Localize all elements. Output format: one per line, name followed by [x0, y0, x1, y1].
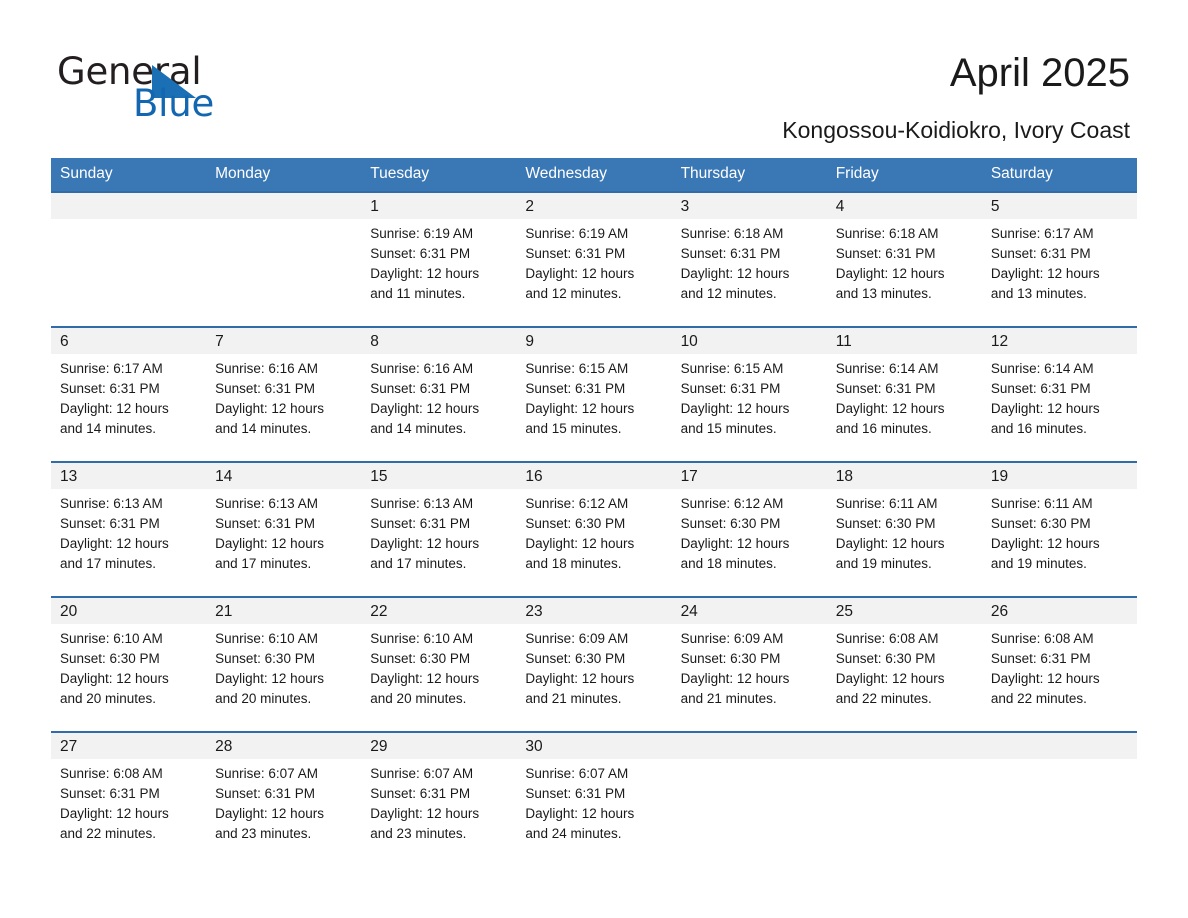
- day-cell-inner: 22Sunrise: 6:10 AMSunset: 6:30 PMDayligh…: [361, 598, 516, 731]
- day-cell-details: Sunrise: 6:13 AMSunset: 6:31 PMDaylight:…: [361, 489, 516, 574]
- daylight-text-line1: Daylight: 12 hours: [370, 399, 510, 419]
- daylight-text-line1: Daylight: 12 hours: [215, 669, 355, 689]
- calendar-day-cell-empty: [982, 732, 1137, 850]
- daylight-text-line2: and 17 minutes.: [215, 554, 355, 574]
- calendar-page: General Blue April 2025 Kongossou-Koidio…: [0, 0, 1188, 918]
- daylight-text-line2: and 17 minutes.: [60, 554, 200, 574]
- daylight-text-line1: Daylight: 12 hours: [836, 669, 976, 689]
- day-cell-inner: 15Sunrise: 6:13 AMSunset: 6:31 PMDayligh…: [361, 463, 516, 596]
- sunrise-text: Sunrise: 6:08 AM: [836, 629, 976, 649]
- day-number: 6: [51, 328, 206, 354]
- daylight-text-line2: and 11 minutes.: [370, 284, 510, 304]
- day-cell-details: Sunrise: 6:17 AMSunset: 6:31 PMDaylight:…: [982, 219, 1137, 304]
- day-cell-inner: 25Sunrise: 6:08 AMSunset: 6:30 PMDayligh…: [827, 598, 982, 731]
- day-number: [827, 733, 982, 759]
- daylight-text-line2: and 14 minutes.: [60, 419, 200, 439]
- day-cell-details: Sunrise: 6:18 AMSunset: 6:31 PMDaylight:…: [672, 219, 827, 304]
- day-number: [51, 193, 206, 219]
- daylight-text-line1: Daylight: 12 hours: [525, 264, 665, 284]
- calendar-day-cell[interactable]: 20Sunrise: 6:10 AMSunset: 6:30 PMDayligh…: [51, 597, 206, 732]
- sunrise-text: Sunrise: 6:07 AM: [215, 764, 355, 784]
- day-number: 17: [672, 463, 827, 489]
- daylight-text-line1: Daylight: 12 hours: [681, 534, 821, 554]
- day-cell-inner: 3Sunrise: 6:18 AMSunset: 6:31 PMDaylight…: [672, 193, 827, 326]
- daylight-text-line2: and 20 minutes.: [370, 689, 510, 709]
- sunset-text: Sunset: 6:30 PM: [525, 514, 665, 534]
- sunset-text: Sunset: 6:30 PM: [215, 649, 355, 669]
- day-cell-details: Sunrise: 6:11 AMSunset: 6:30 PMDaylight:…: [982, 489, 1137, 574]
- calendar-week-row: 1Sunrise: 6:19 AMSunset: 6:31 PMDaylight…: [51, 192, 1137, 327]
- daylight-text-line2: and 12 minutes.: [525, 284, 665, 304]
- calendar-day-cell[interactable]: 25Sunrise: 6:08 AMSunset: 6:30 PMDayligh…: [827, 597, 982, 732]
- sunrise-text: Sunrise: 6:09 AM: [681, 629, 821, 649]
- calendar-day-cell[interactable]: 9Sunrise: 6:15 AMSunset: 6:31 PMDaylight…: [516, 327, 671, 462]
- day-number: 11: [827, 328, 982, 354]
- day-cell-inner: [51, 193, 206, 326]
- day-cell-details: Sunrise: 6:14 AMSunset: 6:31 PMDaylight:…: [827, 354, 982, 439]
- calendar-week-row: 6Sunrise: 6:17 AMSunset: 6:31 PMDaylight…: [51, 327, 1137, 462]
- calendar-day-cell[interactable]: 18Sunrise: 6:11 AMSunset: 6:30 PMDayligh…: [827, 462, 982, 597]
- sunrise-text: Sunrise: 6:15 AM: [681, 359, 821, 379]
- sunset-text: Sunset: 6:30 PM: [836, 514, 976, 534]
- day-number: 15: [361, 463, 516, 489]
- day-cell-inner: 30Sunrise: 6:07 AMSunset: 6:31 PMDayligh…: [516, 733, 671, 850]
- sunrise-text: Sunrise: 6:08 AM: [60, 764, 200, 784]
- day-cell-details: Sunrise: 6:12 AMSunset: 6:30 PMDaylight:…: [672, 489, 827, 574]
- calendar-day-cell[interactable]: 30Sunrise: 6:07 AMSunset: 6:31 PMDayligh…: [516, 732, 671, 850]
- calendar-week-row: 13Sunrise: 6:13 AMSunset: 6:31 PMDayligh…: [51, 462, 1137, 597]
- day-number: 9: [516, 328, 671, 354]
- sunset-text: Sunset: 6:30 PM: [525, 649, 665, 669]
- day-cell-inner: 24Sunrise: 6:09 AMSunset: 6:30 PMDayligh…: [672, 598, 827, 731]
- daylight-text-line1: Daylight: 12 hours: [370, 534, 510, 554]
- day-number: 29: [361, 733, 516, 759]
- page-title: April 2025: [950, 47, 1130, 99]
- calendar-day-cell[interactable]: 27Sunrise: 6:08 AMSunset: 6:31 PMDayligh…: [51, 732, 206, 850]
- day-cell-inner: [982, 733, 1137, 850]
- day-cell-inner: 14Sunrise: 6:13 AMSunset: 6:31 PMDayligh…: [206, 463, 361, 596]
- day-cell-inner: 18Sunrise: 6:11 AMSunset: 6:30 PMDayligh…: [827, 463, 982, 596]
- sunset-text: Sunset: 6:31 PM: [60, 784, 200, 804]
- daylight-text-line1: Daylight: 12 hours: [60, 804, 200, 824]
- sunset-text: Sunset: 6:31 PM: [370, 514, 510, 534]
- sunset-text: Sunset: 6:31 PM: [836, 244, 976, 264]
- sunset-text: Sunset: 6:31 PM: [525, 784, 665, 804]
- day-number: 28: [206, 733, 361, 759]
- calendar-day-cell[interactable]: 15Sunrise: 6:13 AMSunset: 6:31 PMDayligh…: [361, 462, 516, 597]
- month-calendar: Sunday Monday Tuesday Wednesday Thursday…: [51, 158, 1137, 850]
- sunrise-text: Sunrise: 6:13 AM: [370, 494, 510, 514]
- daylight-text-line1: Daylight: 12 hours: [836, 534, 976, 554]
- day-number: 10: [672, 328, 827, 354]
- day-cell-inner: [206, 193, 361, 326]
- day-cell-inner: 1Sunrise: 6:19 AMSunset: 6:31 PMDaylight…: [361, 193, 516, 326]
- calendar-day-cell[interactable]: 6Sunrise: 6:17 AMSunset: 6:31 PMDaylight…: [51, 327, 206, 462]
- sunset-text: Sunset: 6:30 PM: [60, 649, 200, 669]
- sunrise-text: Sunrise: 6:13 AM: [60, 494, 200, 514]
- calendar-day-cell[interactable]: 17Sunrise: 6:12 AMSunset: 6:30 PMDayligh…: [672, 462, 827, 597]
- sunrise-text: Sunrise: 6:12 AM: [681, 494, 821, 514]
- sunrise-text: Sunrise: 6:19 AM: [525, 224, 665, 244]
- sunset-text: Sunset: 6:30 PM: [991, 514, 1131, 534]
- day-cell-details: Sunrise: 6:10 AMSunset: 6:30 PMDaylight:…: [51, 624, 206, 709]
- sunrise-text: Sunrise: 6:12 AM: [525, 494, 665, 514]
- day-number: 3: [672, 193, 827, 219]
- sunset-text: Sunset: 6:31 PM: [60, 514, 200, 534]
- daylight-text-line2: and 23 minutes.: [215, 824, 355, 844]
- day-cell-details: Sunrise: 6:19 AMSunset: 6:31 PMDaylight:…: [361, 219, 516, 304]
- calendar-week-row: 27Sunrise: 6:08 AMSunset: 6:31 PMDayligh…: [51, 732, 1137, 850]
- day-cell-inner: 27Sunrise: 6:08 AMSunset: 6:31 PMDayligh…: [51, 733, 206, 850]
- day-number: 2: [516, 193, 671, 219]
- sunrise-text: Sunrise: 6:07 AM: [370, 764, 510, 784]
- daylight-text-line1: Daylight: 12 hours: [991, 669, 1131, 689]
- calendar-day-cell-empty: [206, 192, 361, 327]
- day-cell-inner: 23Sunrise: 6:09 AMSunset: 6:30 PMDayligh…: [516, 598, 671, 731]
- dow-header-thursday: Thursday: [672, 158, 827, 192]
- daylight-text-line2: and 23 minutes.: [370, 824, 510, 844]
- day-cell-inner: 10Sunrise: 6:15 AMSunset: 6:31 PMDayligh…: [672, 328, 827, 461]
- day-number: 30: [516, 733, 671, 759]
- day-cell-details: Sunrise: 6:12 AMSunset: 6:30 PMDaylight:…: [516, 489, 671, 574]
- daylight-text-line1: Daylight: 12 hours: [836, 264, 976, 284]
- day-cell-inner: 28Sunrise: 6:07 AMSunset: 6:31 PMDayligh…: [206, 733, 361, 850]
- day-cell-inner: 21Sunrise: 6:10 AMSunset: 6:30 PMDayligh…: [206, 598, 361, 731]
- day-number: 22: [361, 598, 516, 624]
- calendar-day-cell[interactable]: 21Sunrise: 6:10 AMSunset: 6:30 PMDayligh…: [206, 597, 361, 732]
- general-blue-logo[interactable]: General Blue: [57, 50, 257, 126]
- calendar-day-cell[interactable]: 1Sunrise: 6:19 AMSunset: 6:31 PMDaylight…: [361, 192, 516, 327]
- sunrise-text: Sunrise: 6:16 AM: [370, 359, 510, 379]
- daylight-text-line2: and 14 minutes.: [215, 419, 355, 439]
- sunset-text: Sunset: 6:31 PM: [991, 379, 1131, 399]
- daylight-text-line2: and 22 minutes.: [60, 824, 200, 844]
- sunrise-text: Sunrise: 6:18 AM: [836, 224, 976, 244]
- daylight-text-line1: Daylight: 12 hours: [525, 804, 665, 824]
- calendar-day-cell[interactable]: 13Sunrise: 6:13 AMSunset: 6:31 PMDayligh…: [51, 462, 206, 597]
- daylight-text-line1: Daylight: 12 hours: [525, 669, 665, 689]
- day-cell-inner: 8Sunrise: 6:16 AMSunset: 6:31 PMDaylight…: [361, 328, 516, 461]
- day-cell-details: Sunrise: 6:13 AMSunset: 6:31 PMDaylight:…: [51, 489, 206, 574]
- daylight-text-line1: Daylight: 12 hours: [525, 534, 665, 554]
- day-number: 14: [206, 463, 361, 489]
- daylight-text-line1: Daylight: 12 hours: [681, 264, 821, 284]
- calendar-day-cell[interactable]: 4Sunrise: 6:18 AMSunset: 6:31 PMDaylight…: [827, 192, 982, 327]
- day-number: 26: [982, 598, 1137, 624]
- day-number: 24: [672, 598, 827, 624]
- sunrise-text: Sunrise: 6:14 AM: [991, 359, 1131, 379]
- day-cell-inner: [827, 733, 982, 850]
- day-number: 1: [361, 193, 516, 219]
- dow-header-tuesday: Tuesday: [361, 158, 516, 192]
- sunrise-text: Sunrise: 6:18 AM: [681, 224, 821, 244]
- daylight-text-line2: and 22 minutes.: [836, 689, 976, 709]
- calendar-day-cell[interactable]: 14Sunrise: 6:13 AMSunset: 6:31 PMDayligh…: [206, 462, 361, 597]
- day-cell-inner: 17Sunrise: 6:12 AMSunset: 6:30 PMDayligh…: [672, 463, 827, 596]
- day-cell-details: Sunrise: 6:13 AMSunset: 6:31 PMDaylight:…: [206, 489, 361, 574]
- daylight-text-line1: Daylight: 12 hours: [60, 669, 200, 689]
- calendar-week-row: 20Sunrise: 6:10 AMSunset: 6:30 PMDayligh…: [51, 597, 1137, 732]
- page-header: General Blue April 2025 Kongossou-Koidio…: [0, 0, 1188, 158]
- daylight-text-line1: Daylight: 12 hours: [991, 534, 1131, 554]
- day-cell-details: Sunrise: 6:07 AMSunset: 6:31 PMDaylight:…: [206, 759, 361, 844]
- day-cell-details: Sunrise: 6:19 AMSunset: 6:31 PMDaylight:…: [516, 219, 671, 304]
- sunset-text: Sunset: 6:31 PM: [60, 379, 200, 399]
- calendar-day-cell-empty: [51, 192, 206, 327]
- sunrise-text: Sunrise: 6:10 AM: [215, 629, 355, 649]
- day-cell-details: Sunrise: 6:17 AMSunset: 6:31 PMDaylight:…: [51, 354, 206, 439]
- sunset-text: Sunset: 6:31 PM: [370, 244, 510, 264]
- calendar-day-cell[interactable]: 3Sunrise: 6:18 AMSunset: 6:31 PMDaylight…: [672, 192, 827, 327]
- daylight-text-line2: and 13 minutes.: [836, 284, 976, 304]
- daylight-text-line1: Daylight: 12 hours: [370, 804, 510, 824]
- day-cell-inner: 19Sunrise: 6:11 AMSunset: 6:30 PMDayligh…: [982, 463, 1137, 596]
- calendar-day-cell[interactable]: 16Sunrise: 6:12 AMSunset: 6:30 PMDayligh…: [516, 462, 671, 597]
- daylight-text-line2: and 21 minutes.: [681, 689, 821, 709]
- day-cell-inner: 29Sunrise: 6:07 AMSunset: 6:31 PMDayligh…: [361, 733, 516, 850]
- day-cell-details: Sunrise: 6:14 AMSunset: 6:31 PMDaylight:…: [982, 354, 1137, 439]
- sunrise-text: Sunrise: 6:14 AM: [836, 359, 976, 379]
- day-number: 23: [516, 598, 671, 624]
- daylight-text-line1: Daylight: 12 hours: [991, 399, 1131, 419]
- daylight-text-line1: Daylight: 12 hours: [60, 399, 200, 419]
- dow-header-wednesday: Wednesday: [516, 158, 671, 192]
- sunrise-text: Sunrise: 6:11 AM: [836, 494, 976, 514]
- dow-header-monday: Monday: [206, 158, 361, 192]
- daylight-text-line1: Daylight: 12 hours: [681, 399, 821, 419]
- calendar-day-cell[interactable]: 8Sunrise: 6:16 AMSunset: 6:31 PMDaylight…: [361, 327, 516, 462]
- calendar-day-cell[interactable]: 7Sunrise: 6:16 AMSunset: 6:31 PMDaylight…: [206, 327, 361, 462]
- day-number: 16: [516, 463, 671, 489]
- sunset-text: Sunset: 6:31 PM: [215, 379, 355, 399]
- daylight-text-line2: and 15 minutes.: [525, 419, 665, 439]
- day-number: [982, 733, 1137, 759]
- day-cell-details: Sunrise: 6:10 AMSunset: 6:30 PMDaylight:…: [206, 624, 361, 709]
- calendar-day-cell-empty: [672, 732, 827, 850]
- day-cell-inner: 5Sunrise: 6:17 AMSunset: 6:31 PMDaylight…: [982, 193, 1137, 326]
- day-cell-details: Sunrise: 6:09 AMSunset: 6:30 PMDaylight:…: [672, 624, 827, 709]
- calendar-day-cell[interactable]: 23Sunrise: 6:09 AMSunset: 6:30 PMDayligh…: [516, 597, 671, 732]
- daylight-text-line2: and 17 minutes.: [370, 554, 510, 574]
- day-cell-inner: 13Sunrise: 6:13 AMSunset: 6:31 PMDayligh…: [51, 463, 206, 596]
- sunrise-text: Sunrise: 6:15 AM: [525, 359, 665, 379]
- calendar-day-cell[interactable]: 22Sunrise: 6:10 AMSunset: 6:30 PMDayligh…: [361, 597, 516, 732]
- daylight-text-line2: and 18 minutes.: [525, 554, 665, 574]
- day-number: 18: [827, 463, 982, 489]
- day-cell-details: Sunrise: 6:08 AMSunset: 6:31 PMDaylight:…: [982, 624, 1137, 709]
- sunset-text: Sunset: 6:31 PM: [215, 514, 355, 534]
- day-number: 13: [51, 463, 206, 489]
- daylight-text-line2: and 19 minutes.: [836, 554, 976, 574]
- day-number: 21: [206, 598, 361, 624]
- logo-text-blue: Blue: [133, 82, 214, 126]
- day-number: 25: [827, 598, 982, 624]
- day-cell-details: Sunrise: 6:16 AMSunset: 6:31 PMDaylight:…: [206, 354, 361, 439]
- day-number: 8: [361, 328, 516, 354]
- calendar-header: Sunday Monday Tuesday Wednesday Thursday…: [51, 158, 1137, 192]
- daylight-text-line2: and 20 minutes.: [60, 689, 200, 709]
- calendar-day-cell[interactable]: 29Sunrise: 6:07 AMSunset: 6:31 PMDayligh…: [361, 732, 516, 850]
- day-number: 12: [982, 328, 1137, 354]
- daylight-text-line2: and 16 minutes.: [836, 419, 976, 439]
- day-number: 20: [51, 598, 206, 624]
- daylight-text-line1: Daylight: 12 hours: [836, 399, 976, 419]
- day-cell-details: Sunrise: 6:15 AMSunset: 6:31 PMDaylight:…: [516, 354, 671, 439]
- daylight-text-line2: and 18 minutes.: [681, 554, 821, 574]
- daylight-text-line2: and 12 minutes.: [681, 284, 821, 304]
- day-cell-inner: 20Sunrise: 6:10 AMSunset: 6:30 PMDayligh…: [51, 598, 206, 731]
- calendar-day-cell[interactable]: 10Sunrise: 6:15 AMSunset: 6:31 PMDayligh…: [672, 327, 827, 462]
- daylight-text-line2: and 13 minutes.: [991, 284, 1131, 304]
- daylight-text-line2: and 22 minutes.: [991, 689, 1131, 709]
- day-cell-inner: 12Sunrise: 6:14 AMSunset: 6:31 PMDayligh…: [982, 328, 1137, 461]
- daylight-text-line2: and 20 minutes.: [215, 689, 355, 709]
- daylight-text-line1: Daylight: 12 hours: [370, 669, 510, 689]
- sunrise-text: Sunrise: 6:19 AM: [370, 224, 510, 244]
- day-cell-inner: 7Sunrise: 6:16 AMSunset: 6:31 PMDaylight…: [206, 328, 361, 461]
- calendar-body: 1Sunrise: 6:19 AMSunset: 6:31 PMDaylight…: [51, 192, 1137, 850]
- day-cell-details: Sunrise: 6:18 AMSunset: 6:31 PMDaylight:…: [827, 219, 982, 304]
- sunrise-text: Sunrise: 6:11 AM: [991, 494, 1131, 514]
- page-subtitle: Kongossou-Koidiokro, Ivory Coast: [782, 115, 1130, 145]
- sunset-text: Sunset: 6:31 PM: [836, 379, 976, 399]
- sunrise-text: Sunrise: 6:07 AM: [525, 764, 665, 784]
- sunrise-text: Sunrise: 6:09 AM: [525, 629, 665, 649]
- daylight-text-line1: Daylight: 12 hours: [991, 264, 1131, 284]
- day-number: 7: [206, 328, 361, 354]
- calendar-day-cell[interactable]: 26Sunrise: 6:08 AMSunset: 6:31 PMDayligh…: [982, 597, 1137, 732]
- day-cell-inner: 26Sunrise: 6:08 AMSunset: 6:31 PMDayligh…: [982, 598, 1137, 731]
- sunset-text: Sunset: 6:31 PM: [370, 784, 510, 804]
- calendar-day-cell[interactable]: 19Sunrise: 6:11 AMSunset: 6:30 PMDayligh…: [982, 462, 1137, 597]
- day-cell-details: Sunrise: 6:15 AMSunset: 6:31 PMDaylight:…: [672, 354, 827, 439]
- day-cell-inner: 9Sunrise: 6:15 AMSunset: 6:31 PMDaylight…: [516, 328, 671, 461]
- sunset-text: Sunset: 6:31 PM: [525, 379, 665, 399]
- sunset-text: Sunset: 6:30 PM: [681, 514, 821, 534]
- day-cell-details: Sunrise: 6:08 AMSunset: 6:31 PMDaylight:…: [51, 759, 206, 844]
- day-number: [206, 193, 361, 219]
- sunrise-text: Sunrise: 6:17 AM: [60, 359, 200, 379]
- sunrise-text: Sunrise: 6:16 AM: [215, 359, 355, 379]
- sunset-text: Sunset: 6:31 PM: [681, 379, 821, 399]
- sunrise-text: Sunrise: 6:08 AM: [991, 629, 1131, 649]
- sunset-text: Sunset: 6:31 PM: [370, 379, 510, 399]
- daylight-text-line2: and 16 minutes.: [991, 419, 1131, 439]
- sunrise-text: Sunrise: 6:13 AM: [215, 494, 355, 514]
- day-cell-inner: 4Sunrise: 6:18 AMSunset: 6:31 PMDaylight…: [827, 193, 982, 326]
- daylight-text-line1: Daylight: 12 hours: [60, 534, 200, 554]
- calendar-day-cell[interactable]: 11Sunrise: 6:14 AMSunset: 6:31 PMDayligh…: [827, 327, 982, 462]
- calendar-day-cell[interactable]: 12Sunrise: 6:14 AMSunset: 6:31 PMDayligh…: [982, 327, 1137, 462]
- day-cell-inner: [672, 733, 827, 850]
- day-cell-details: Sunrise: 6:16 AMSunset: 6:31 PMDaylight:…: [361, 354, 516, 439]
- daylight-text-line1: Daylight: 12 hours: [681, 669, 821, 689]
- day-of-week-row: Sunday Monday Tuesday Wednesday Thursday…: [51, 158, 1137, 192]
- dow-header-friday: Friday: [827, 158, 982, 192]
- day-cell-details: Sunrise: 6:09 AMSunset: 6:30 PMDaylight:…: [516, 624, 671, 709]
- calendar-day-cell[interactable]: 5Sunrise: 6:17 AMSunset: 6:31 PMDaylight…: [982, 192, 1137, 327]
- sunrise-text: Sunrise: 6:10 AM: [370, 629, 510, 649]
- calendar-day-cell[interactable]: 24Sunrise: 6:09 AMSunset: 6:30 PMDayligh…: [672, 597, 827, 732]
- day-number: 4: [827, 193, 982, 219]
- daylight-text-line2: and 24 minutes.: [525, 824, 665, 844]
- daylight-text-line2: and 21 minutes.: [525, 689, 665, 709]
- sunset-text: Sunset: 6:31 PM: [991, 649, 1131, 669]
- daylight-text-line2: and 14 minutes.: [370, 419, 510, 439]
- sunset-text: Sunset: 6:30 PM: [836, 649, 976, 669]
- sunset-text: Sunset: 6:31 PM: [215, 784, 355, 804]
- calendar-day-cell[interactable]: 2Sunrise: 6:19 AMSunset: 6:31 PMDaylight…: [516, 192, 671, 327]
- sunset-text: Sunset: 6:31 PM: [991, 244, 1131, 264]
- day-number: 19: [982, 463, 1137, 489]
- calendar-day-cell-empty: [827, 732, 982, 850]
- day-number: 5: [982, 193, 1137, 219]
- sunrise-text: Sunrise: 6:17 AM: [991, 224, 1131, 244]
- day-cell-inner: 11Sunrise: 6:14 AMSunset: 6:31 PMDayligh…: [827, 328, 982, 461]
- daylight-text-line1: Daylight: 12 hours: [525, 399, 665, 419]
- day-cell-inner: 2Sunrise: 6:19 AMSunset: 6:31 PMDaylight…: [516, 193, 671, 326]
- calendar-day-cell[interactable]: 28Sunrise: 6:07 AMSunset: 6:31 PMDayligh…: [206, 732, 361, 850]
- dow-header-saturday: Saturday: [982, 158, 1137, 192]
- day-cell-details: Sunrise: 6:11 AMSunset: 6:30 PMDaylight:…: [827, 489, 982, 574]
- sunset-text: Sunset: 6:30 PM: [681, 649, 821, 669]
- daylight-text-line1: Daylight: 12 hours: [370, 264, 510, 284]
- day-cell-details: Sunrise: 6:08 AMSunset: 6:30 PMDaylight:…: [827, 624, 982, 709]
- day-number: 27: [51, 733, 206, 759]
- sunset-text: Sunset: 6:31 PM: [525, 244, 665, 264]
- day-cell-inner: 6Sunrise: 6:17 AMSunset: 6:31 PMDaylight…: [51, 328, 206, 461]
- day-cell-inner: 16Sunrise: 6:12 AMSunset: 6:30 PMDayligh…: [516, 463, 671, 596]
- sunset-text: Sunset: 6:30 PM: [370, 649, 510, 669]
- day-cell-details: Sunrise: 6:07 AMSunset: 6:31 PMDaylight:…: [361, 759, 516, 844]
- daylight-text-line1: Daylight: 12 hours: [215, 534, 355, 554]
- daylight-text-line1: Daylight: 12 hours: [215, 804, 355, 824]
- day-cell-details: Sunrise: 6:10 AMSunset: 6:30 PMDaylight:…: [361, 624, 516, 709]
- sunrise-text: Sunrise: 6:10 AM: [60, 629, 200, 649]
- sunset-text: Sunset: 6:31 PM: [681, 244, 821, 264]
- daylight-text-line2: and 15 minutes.: [681, 419, 821, 439]
- daylight-text-line1: Daylight: 12 hours: [215, 399, 355, 419]
- dow-header-sunday: Sunday: [51, 158, 206, 192]
- day-cell-details: Sunrise: 6:07 AMSunset: 6:31 PMDaylight:…: [516, 759, 671, 844]
- day-number: [672, 733, 827, 759]
- daylight-text-line2: and 19 minutes.: [991, 554, 1131, 574]
